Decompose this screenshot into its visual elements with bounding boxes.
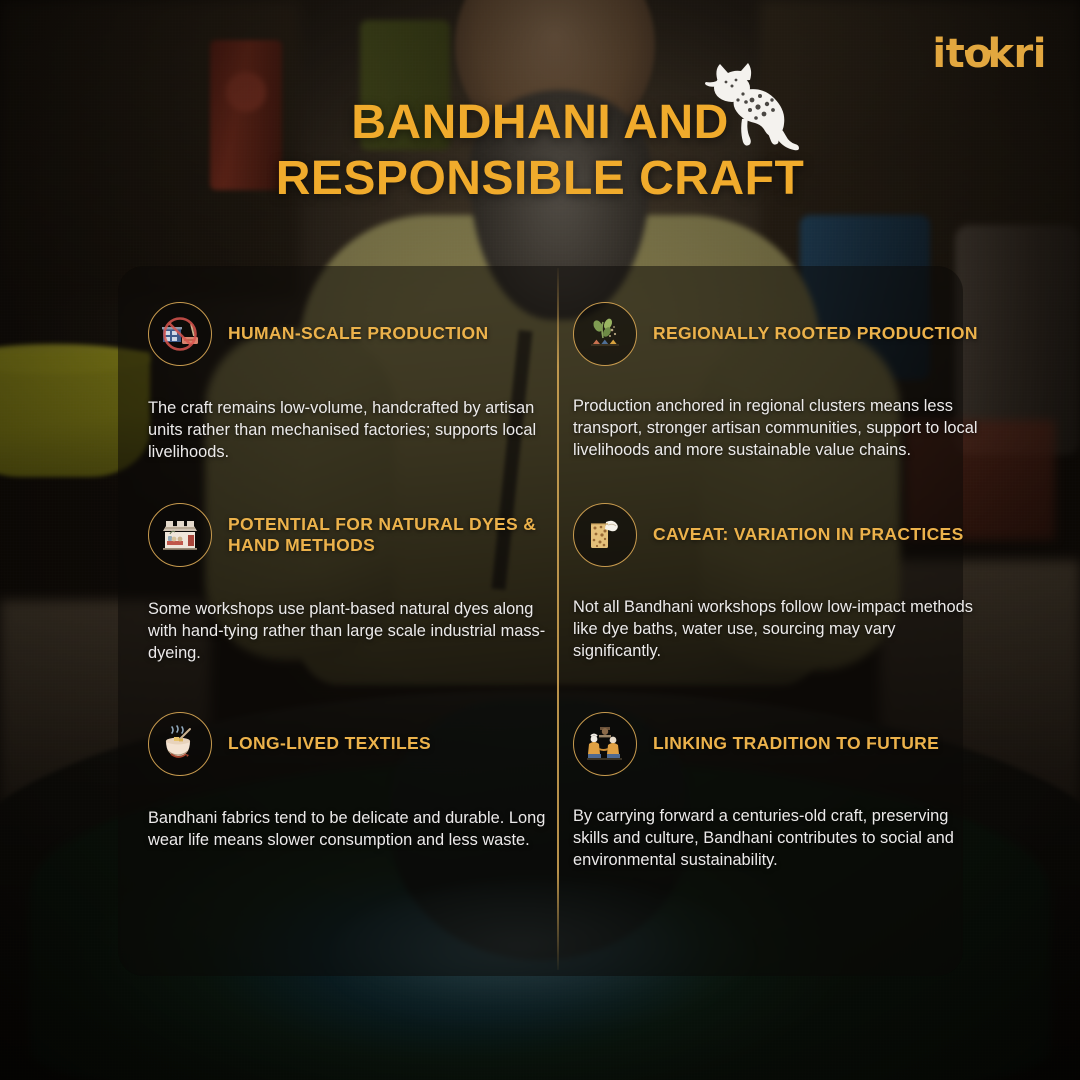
card-linking-tradition-to-future: LINKING TRADITION TO FUTURE By carrying … [573,712,981,872]
card-regionally-rooted-production: REGIONALLY ROOTED PRODUCTION Production … [573,302,981,462]
steaming-dye-pot-icon [148,712,212,776]
card-title: LINKING TRADITION TO FUTURE [653,733,939,754]
logo-text-tail: kri [987,31,1046,77]
card-body: Some workshops use plant-based natural d… [148,599,556,665]
card-title: CAVEAT: VARIATION IN PRACTICES [653,524,964,545]
infographic-canvas: itokri BANDHANI AND RESPONSIBLE CRAFT [0,0,1080,1080]
hand-holding-fabric-icon [573,503,637,567]
cards-grid: HUMAN-SCALE PRODUCTION The craft remains… [118,266,963,976]
title-line-1: BANDHANI AND [351,96,729,149]
card-natural-dyes-hand-methods: POTENTIAL FOR NATURAL DYES & HAND METHOD… [148,503,556,665]
card-title: REGIONALLY ROOTED PRODUCTION [653,323,978,344]
card-title: HUMAN-SCALE PRODUCTION [228,323,488,344]
card-title: LONG-LIVED TEXTILES [228,733,431,754]
card-body: Production anchored in regional clusters… [573,396,981,462]
title-line-2: RESPONSIBLE CRAFT [0,151,1080,207]
two-artisans-icon [573,712,637,776]
page-title: BANDHANI AND RESPONSIBLE CRAFT [0,95,1080,207]
card-body: Bandhani fabrics tend to be delicate and… [148,808,556,852]
seedling-sprout-icon [573,302,637,366]
card-body: By carrying forward a centuries-old craf… [573,806,981,872]
card-long-lived-textiles: LONG-LIVED TEXTILES Bandhani fabrics ten… [148,712,556,852]
card-body: Not all Bandhani workshops follow low-im… [573,597,981,663]
itokri-logo[interactable]: itokri [932,34,1046,74]
card-body: The craft remains low-volume, handcrafte… [148,398,556,464]
no-factory-icon [148,302,212,366]
logo-basket-o-icon: o [964,34,987,74]
card-title: POTENTIAL FOR NATURAL DYES & HAND METHOD… [228,514,556,557]
card-human-scale-production: HUMAN-SCALE PRODUCTION The craft remains… [148,302,556,464]
card-caveat-variation-in-practices: CAVEAT: VARIATION IN PRACTICES Not all B… [573,503,981,663]
leopard-icon [688,52,800,157]
workshop-building-icon [148,503,212,567]
